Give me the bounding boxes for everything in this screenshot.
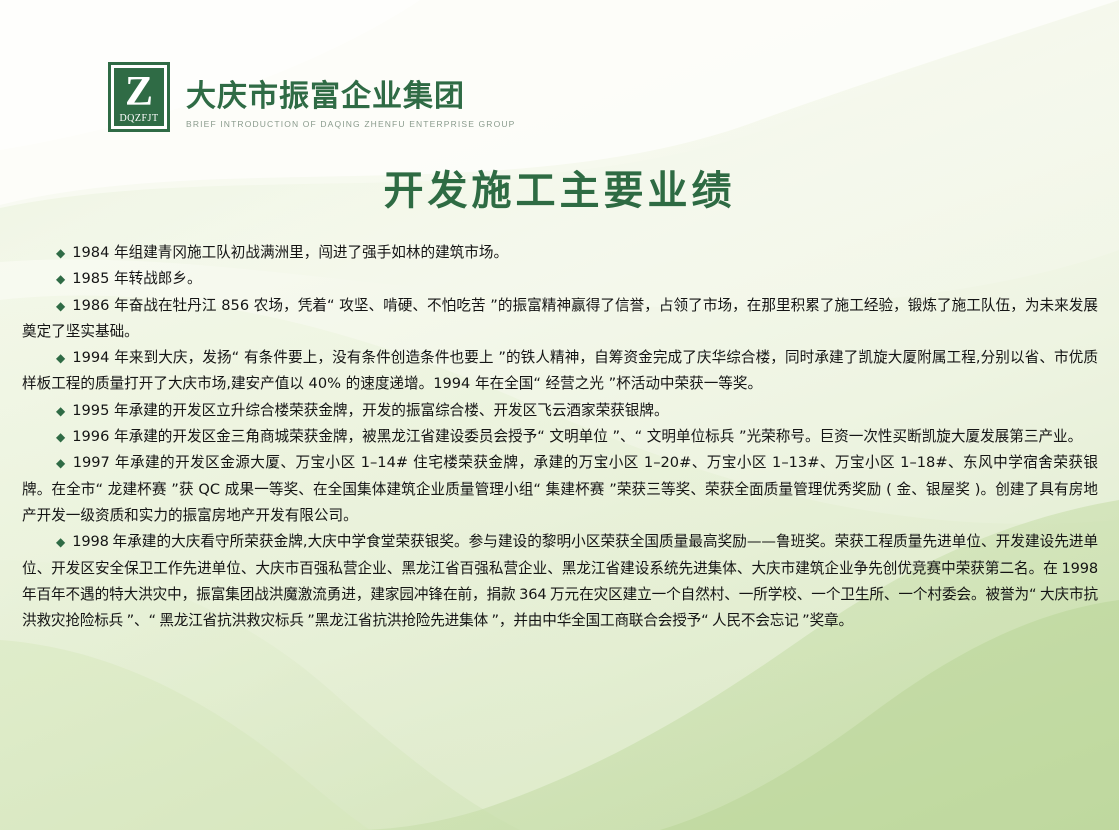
- bullet-icon: ◆: [22, 272, 72, 286]
- paragraph-5: ◆1996 年承建的开发区金三角商城荣获金牌，被黑龙江省建设委员会授予“ 文明单…: [22, 424, 1098, 450]
- paragraph-text: 1984 年组建青冈施工队初战满洲里，闯进了强手如林的建筑市场。: [72, 244, 508, 261]
- paragraph-0: ◆1984 年组建青冈施工队初战满洲里，闯进了强手如林的建筑市场。: [22, 240, 1098, 266]
- achievements-body: ◆1984 年组建青冈施工队初战满洲里，闯进了强手如林的建筑市场。 ◆1985 …: [22, 240, 1098, 634]
- bullet-icon: ◆: [22, 299, 72, 313]
- paragraph-1: ◆1985 年转战郎乡。: [22, 266, 1098, 292]
- paragraph-7: ◆1998 年承建的大庆看守所荣获金牌,大庆中学食堂荣获银奖。参与建设的黎明小区…: [22, 529, 1098, 634]
- company-name-en: BRIEF INTRODUCTION OF DAQING ZHENFU ENTE…: [186, 119, 515, 129]
- paragraph-text: 1995 年承建的开发区立升综合楼荣获金牌，开发的振富综合楼、开发区飞云酒家荣获…: [72, 402, 668, 419]
- paragraph-3: ◆1994 年来到大庆，发扬“ 有条件要上，没有条件创造条件也要上 ”的铁人精神…: [22, 345, 1098, 398]
- paragraph-text: 1996 年承建的开发区金三角商城荣获金牌，被黑龙江省建设委员会授予“ 文明单位…: [72, 428, 1082, 445]
- bullet-icon: ◆: [22, 246, 72, 260]
- paragraph-text: 1985 年转战郎乡。: [72, 270, 201, 287]
- logo-abbreviation: DQZFJT: [119, 113, 158, 124]
- bullet-icon: ◆: [22, 456, 73, 470]
- paragraph-4: ◆1995 年承建的开发区立升综合楼荣获金牌，开发的振富综合楼、开发区飞云酒家荣…: [22, 398, 1098, 424]
- company-logo: Z DQZFJT: [108, 62, 170, 132]
- paragraph-2: ◆1986 年奋战在牡丹江 856 农场，凭着“ 攻坚、啃硬、不怕吃苦 ”的振富…: [22, 293, 1098, 346]
- logo-letter-z: Z: [125, 72, 153, 112]
- company-header: Z DQZFJT 大庆市振富企业集团 BRIEF INTRODUCTION OF…: [108, 62, 515, 132]
- paragraph-text: 1997 年承建的开发区金源大厦、万宝小区 1–14# 住宅楼荣获金牌，承建的万…: [22, 454, 1098, 524]
- logo-inner-box: Z DQZFJT: [114, 68, 164, 126]
- brand-text-block: 大庆市振富企业集团 BRIEF INTRODUCTION OF DAQING Z…: [186, 62, 515, 129]
- bullet-icon: ◆: [22, 404, 72, 418]
- page-title: 开发施工主要业绩: [0, 166, 1119, 216]
- paragraph-text: 1994 年来到大庆，发扬“ 有条件要上，没有条件创造条件也要上 ”的铁人精神，…: [22, 349, 1098, 392]
- bullet-icon: ◆: [22, 535, 72, 549]
- paragraph-text: 1998 年承建的大庆看守所荣获金牌,大庆中学食堂荣获银奖。参与建设的黎明小区荣…: [22, 533, 1098, 629]
- bullet-icon: ◆: [22, 430, 72, 444]
- paragraph-text: 1986 年奋战在牡丹江 856 农场，凭着“ 攻坚、啃硬、不怕吃苦 ”的振富精…: [22, 297, 1098, 340]
- bullet-icon: ◆: [22, 351, 72, 365]
- paragraph-6: ◆1997 年承建的开发区金源大厦、万宝小区 1–14# 住宅楼荣获金牌，承建的…: [22, 450, 1098, 529]
- company-name-cn: 大庆市振富企业集团: [186, 80, 515, 114]
- slide-page: Z DQZFJT 大庆市振富企业集团 BRIEF INTRODUCTION OF…: [0, 0, 1119, 830]
